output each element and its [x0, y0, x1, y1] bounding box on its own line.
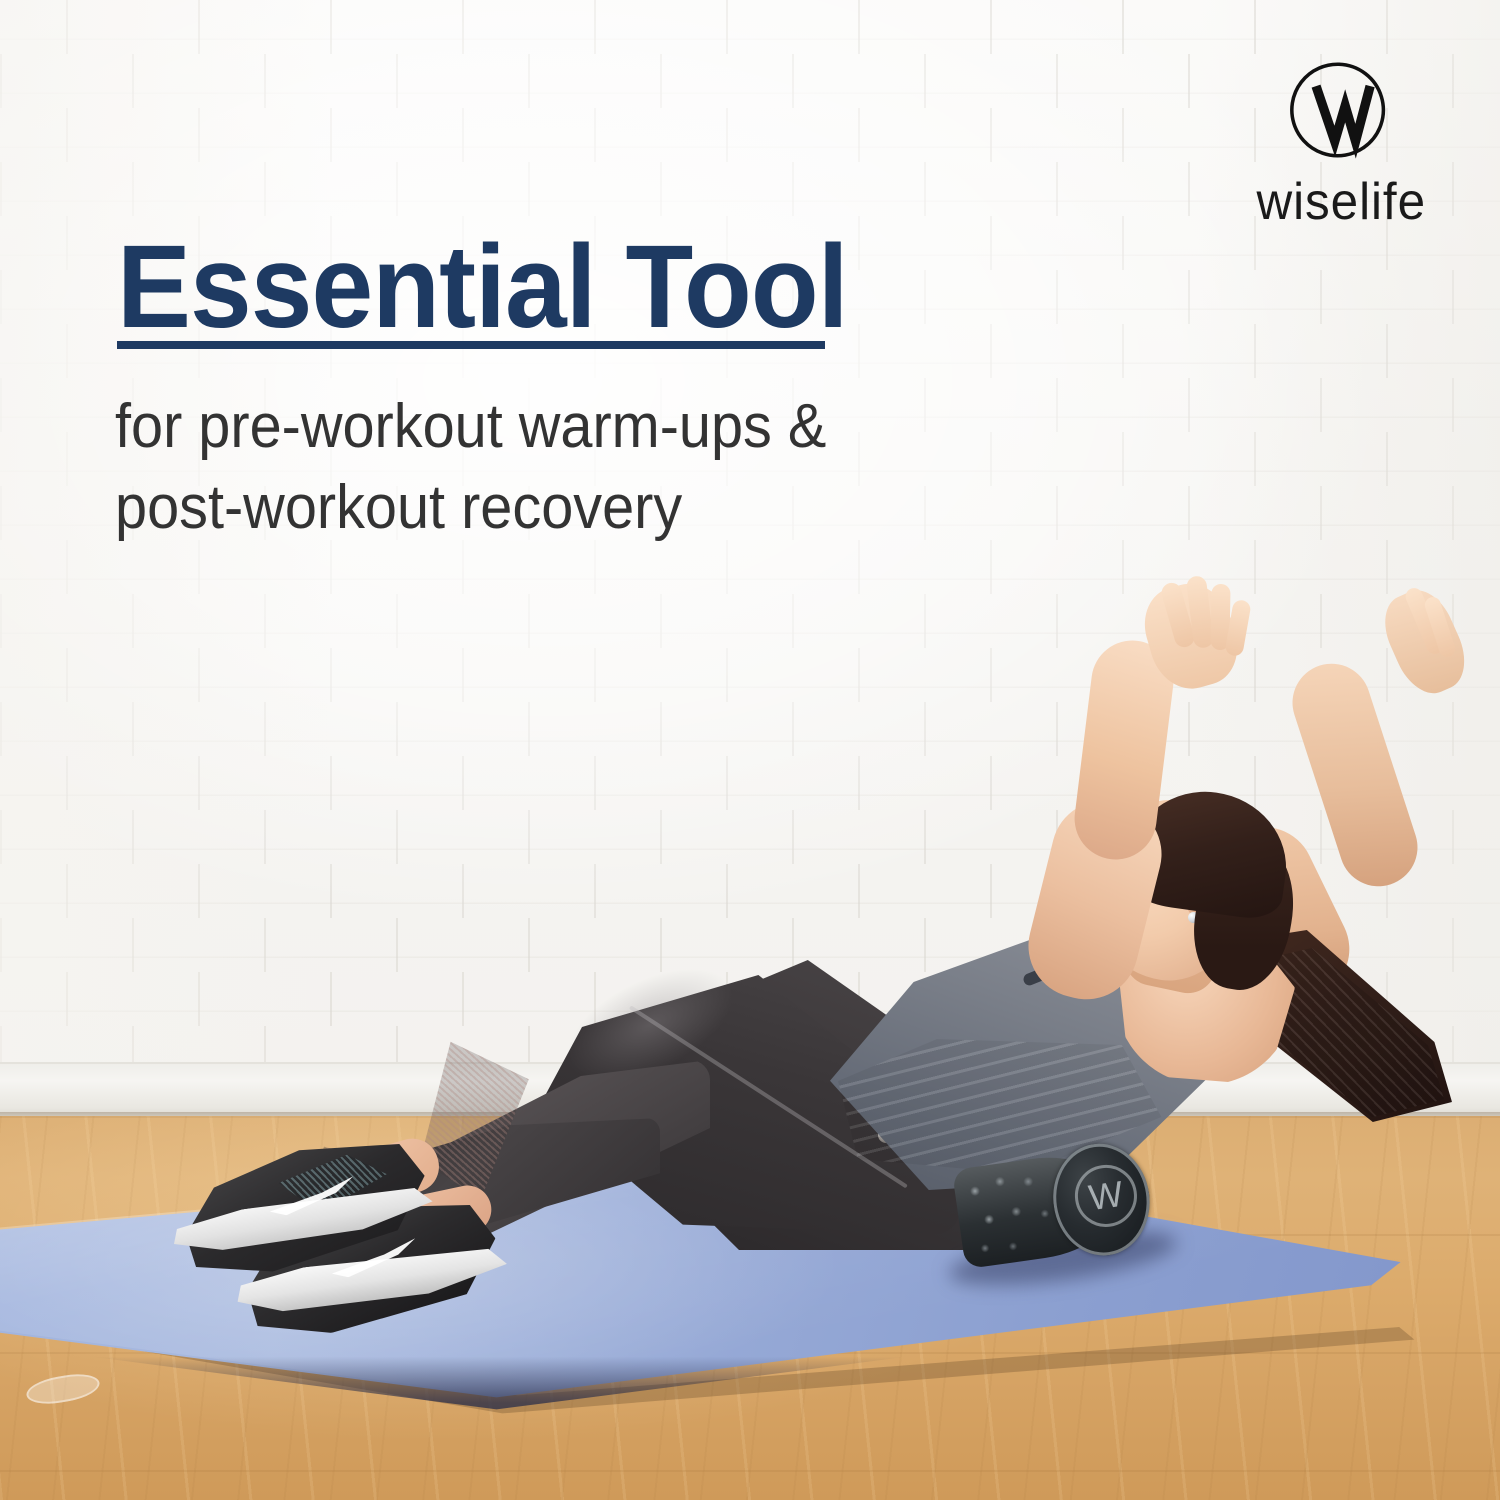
title-underline: [117, 341, 825, 349]
wiselife-circle-w-icon: [1289, 58, 1393, 162]
promo-banner: W Essential Tool for pre-workout warm-up…: [0, 0, 1500, 1500]
page-title: Essential Tool: [117, 228, 848, 346]
subtitle: for pre-workout warm-ups & post-workout …: [115, 386, 1045, 548]
subtitle-line-2: post-workout recovery: [115, 467, 1045, 548]
subtitle-line-1: for pre-workout warm-ups &: [115, 386, 1045, 467]
brand-logo: wiselife: [1216, 58, 1466, 238]
brand-name: wiselife: [1256, 172, 1426, 232]
